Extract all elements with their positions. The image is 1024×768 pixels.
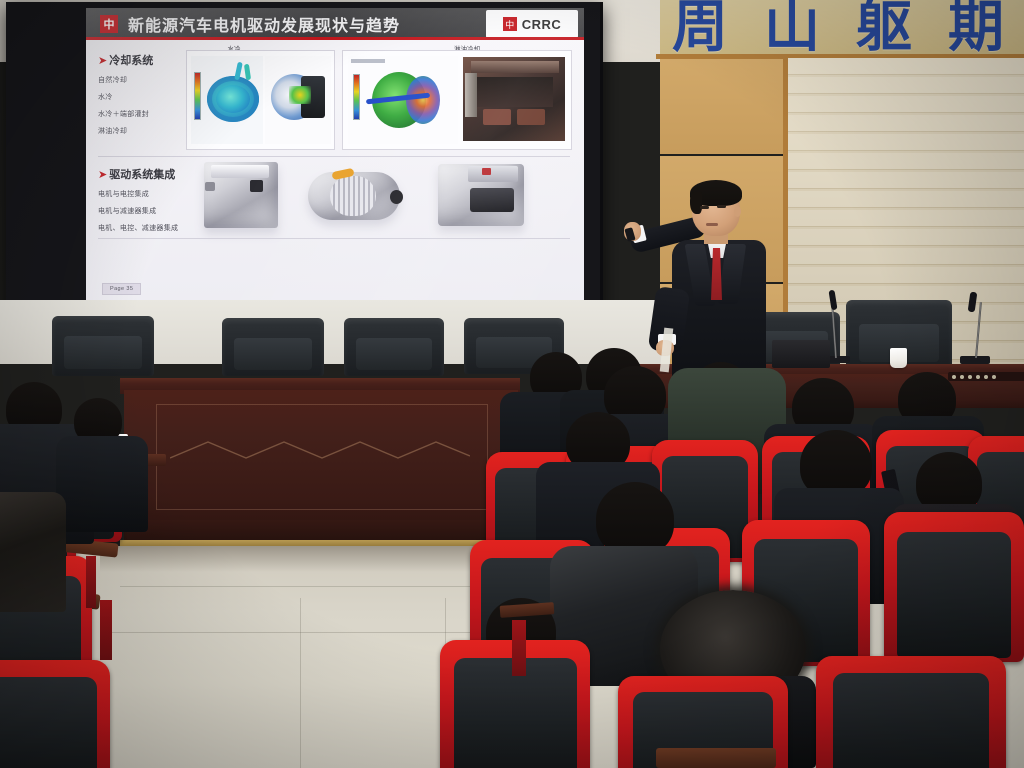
gearbox-output-shaft	[390, 190, 403, 204]
product-motor-gearbox-unit	[308, 172, 400, 220]
banner-character-4: 期	[948, 0, 1006, 56]
inverter-top-plate	[211, 165, 269, 178]
inverter-connector	[205, 182, 215, 191]
stage-chair-1-cushion	[64, 336, 142, 369]
stage-chair-2-cushion	[234, 338, 312, 370]
banner-character-1: 周	[672, 0, 730, 56]
slide-page-label: Page 35	[102, 283, 141, 295]
stator-core-window	[477, 77, 553, 107]
presenter-eye-left	[700, 206, 709, 209]
rotor-cfd-label	[351, 59, 385, 63]
section-cooling-heading: ➤冷却系统	[98, 52, 180, 68]
integration-item-0: 电机与电控集成	[98, 189, 190, 199]
seat-row2-4-pad	[897, 532, 1012, 658]
section-integration-heading: ➤驱动系统集成	[98, 166, 190, 182]
floor-tile-line-3	[300, 598, 301, 768]
section-cooling: ➤冷却系统 自然冷却 水冷 水冷＋端部灌封 淋油冷却	[98, 52, 180, 136]
slide-header: 中 新能源汽车电机驱动发展现状与趋势 中 CRRC	[86, 8, 584, 40]
seat-left-leg-1	[86, 556, 96, 608]
panel-led-4	[976, 375, 980, 379]
motor-thermal-hotspot	[289, 86, 311, 104]
rotor-face-detail	[406, 76, 440, 124]
audience-head-c1	[596, 482, 674, 556]
three-in-one-inner-core	[470, 188, 514, 212]
gearbox-rib-set	[330, 176, 376, 216]
product-motor-inverter-unit	[204, 162, 278, 228]
cfd-coil-figure	[191, 56, 263, 144]
audience-body-left-3	[0, 492, 66, 612]
coil-geometry	[207, 76, 259, 122]
stator-mount-flange	[465, 73, 477, 117]
slide-logo-icon: 中	[100, 15, 118, 33]
presenter-mouth	[706, 223, 718, 226]
stage-chair-3	[344, 318, 444, 376]
seat-armrest-foreground	[656, 748, 776, 768]
banner-character-3: 躯	[856, 0, 914, 56]
figure-group-water-cooling	[186, 50, 335, 150]
integration-item-1: 电机与减速器集成	[98, 206, 190, 216]
bullet-arrow-icon-2: ➤	[98, 168, 107, 181]
three-in-one-cover	[468, 166, 518, 182]
slide-title: 新能源汽车电机驱动发展现状与趋势	[128, 12, 400, 36]
coil-outlet-tube	[244, 64, 251, 81]
stator-section-photo	[463, 57, 565, 141]
seat-row3-3[interactable]	[816, 656, 1006, 768]
seat-row3-leg-1	[512, 620, 526, 676]
panel-led-2	[960, 375, 964, 379]
presenter-ear	[734, 206, 741, 217]
cfd-colorbar-right	[353, 74, 360, 120]
panel-led-6	[992, 375, 996, 379]
venue-banner: 周 山 躯 期	[672, 0, 1024, 58]
stage-desk-zigzag-ornament	[170, 436, 470, 462]
cooling-item-3: 淋油冷却	[98, 126, 180, 136]
cooling-item-0: 自然冷却	[98, 75, 180, 85]
inverter-port	[250, 180, 263, 192]
panel-led-5	[984, 375, 988, 379]
cooling-item-2: 水冷＋端部灌封	[98, 109, 180, 119]
section-integration: ➤驱动系统集成 电机与电控集成 电机与减速器集成 电机、电控、减速器集成	[98, 166, 190, 233]
panel-led-3	[968, 375, 972, 379]
wall-panel-tan-upper	[660, 58, 785, 154]
bullet-arrow-icon: ➤	[98, 54, 107, 67]
crrc-mark-icon: 中	[503, 17, 517, 31]
desk-paper-cup[interactable]	[890, 348, 907, 368]
motor-thermal-figure	[265, 56, 331, 144]
desk-control-panel[interactable]	[948, 372, 1024, 381]
seat-left-4[interactable]	[0, 660, 110, 768]
stator-housing-top	[471, 61, 559, 73]
stage-chair-3-cushion	[356, 338, 432, 370]
product-three-in-one-unit	[438, 164, 524, 226]
audience-body-left-2	[56, 436, 148, 532]
seat-row2-4[interactable]	[884, 512, 1024, 662]
banner-character-2: 山	[764, 0, 822, 56]
seat-left-4-pad	[0, 677, 97, 768]
section-integration-title: 驱动系统集成	[109, 168, 175, 181]
cooling-item-1: 水冷	[98, 92, 180, 102]
three-in-one-indicator	[482, 168, 491, 175]
figure-group-oil-cooling	[342, 50, 572, 150]
crrc-wordmark: CRRC	[522, 17, 562, 32]
slide-divider-lower	[98, 238, 570, 239]
section-cooling-title: 冷却系统	[109, 54, 153, 67]
stator-winding-a	[483, 109, 511, 125]
presenter-hair-side	[690, 192, 702, 214]
crrc-brand-tab: 中 CRRC	[486, 10, 578, 38]
rotor-cfd-figure	[348, 56, 458, 144]
cfd-colorbar-left	[194, 72, 201, 120]
stator-winding-b	[517, 109, 545, 125]
presenter	[618, 178, 798, 378]
lecture-hall-photo: 周 山 躯 期 中 新能源汽车电机驱动发展现状与趋势 中 CRRC 水冷 淋油冷…	[0, 0, 1024, 768]
slide-divider-upper	[98, 156, 570, 157]
stage-chair-1	[52, 316, 154, 376]
seat-left-leg-2	[100, 600, 112, 660]
projected-slide: 中 新能源汽车电机驱动发展现状与趋势 中 CRRC 水冷 淋油冷却 ➤冷却系统 …	[86, 8, 584, 302]
integration-item-2: 电机、电控、减速器集成	[98, 223, 190, 233]
seat-row3-3-pad	[833, 673, 989, 768]
panel-led-1	[952, 375, 956, 379]
slide-body: 水冷 淋油冷却 ➤冷却系统 自然冷却 水冷 水冷＋端部灌封 淋油冷却	[86, 40, 584, 302]
presenter-eye-right	[717, 205, 726, 208]
stage-chair-2	[222, 318, 324, 376]
